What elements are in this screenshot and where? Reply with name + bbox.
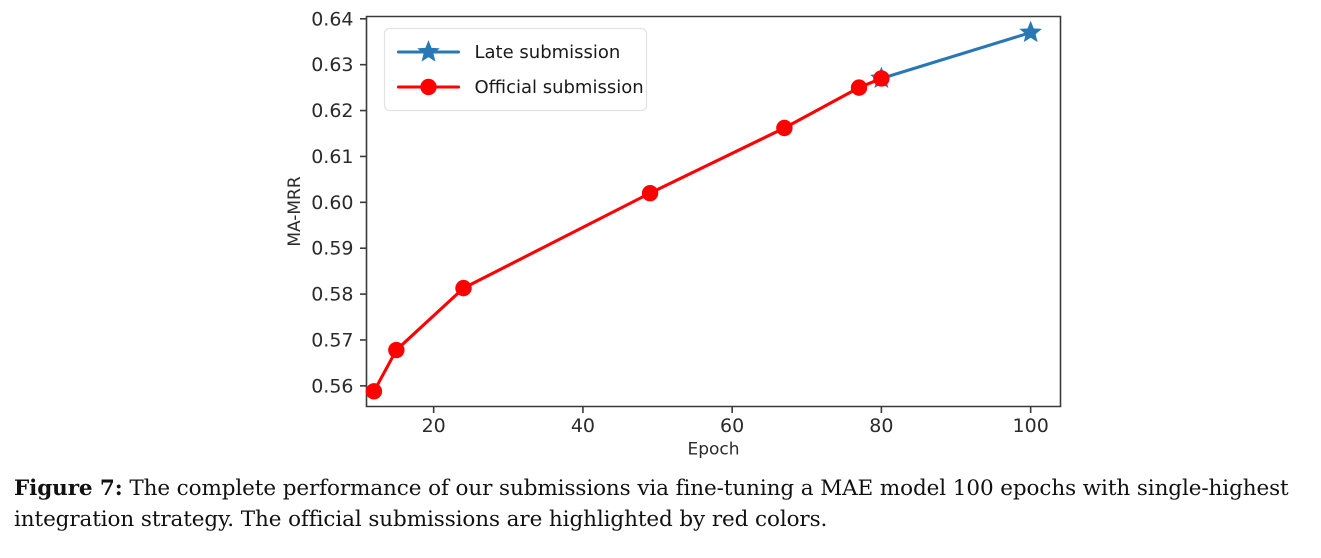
- y-tick-label: 0.58: [311, 284, 353, 306]
- circle-marker: [776, 120, 792, 136]
- y-tick-label: 0.64: [311, 8, 353, 30]
- series-line: [881, 33, 1030, 79]
- circle-marker: [642, 185, 658, 201]
- data-series: [871, 22, 1040, 87]
- figure-caption: Figure 7: The complete performance of ou…: [14, 474, 1314, 535]
- y-tick-label: 0.56: [311, 375, 353, 397]
- legend-label: Official submission: [475, 77, 644, 98]
- y-tick-label: 0.59: [311, 238, 353, 260]
- legend-label: Late submission: [475, 42, 621, 63]
- circle-marker: [455, 280, 471, 296]
- circle-marker: [388, 342, 404, 358]
- circle-marker: [873, 70, 889, 86]
- legend-box: [385, 29, 647, 111]
- star-marker: [1021, 22, 1041, 41]
- x-axis: 20406080100: [422, 407, 1049, 438]
- y-axis: 0.560.570.580.590.600.610.620.630.64: [311, 8, 366, 397]
- x-tick-label: 20: [422, 415, 446, 437]
- y-axis-label: MA-MRR: [285, 176, 305, 247]
- x-tick-label: 100: [1013, 415, 1049, 437]
- y-tick-label: 0.57: [311, 329, 353, 351]
- caption-label: Figure 7:: [14, 476, 123, 501]
- x-tick-label: 40: [571, 415, 595, 437]
- x-tick-label: 80: [869, 415, 893, 437]
- x-axis-label: Epoch: [687, 440, 739, 460]
- y-tick-label: 0.60: [311, 192, 353, 214]
- legend-circle-marker: [420, 79, 436, 95]
- x-tick-label: 60: [720, 415, 744, 437]
- chart-plot: 0.560.570.580.590.600.610.620.630.64 204…: [0, 0, 1321, 470]
- figure-page: 0.560.570.580.590.600.610.620.630.64 204…: [0, 0, 1321, 558]
- chart-figure: 0.560.570.580.590.600.610.620.630.64 204…: [0, 0, 1321, 470]
- circle-marker: [851, 79, 867, 95]
- series-line: [374, 78, 881, 391]
- chart-legend: Late submissionOfficial submission: [385, 29, 647, 111]
- data-series: [366, 70, 890, 399]
- y-tick-label: 0.63: [311, 54, 353, 76]
- caption-body: The complete performance of our submissi…: [14, 476, 1289, 532]
- y-tick-label: 0.62: [311, 100, 353, 122]
- y-tick-label: 0.61: [311, 146, 353, 168]
- circle-marker: [366, 383, 382, 399]
